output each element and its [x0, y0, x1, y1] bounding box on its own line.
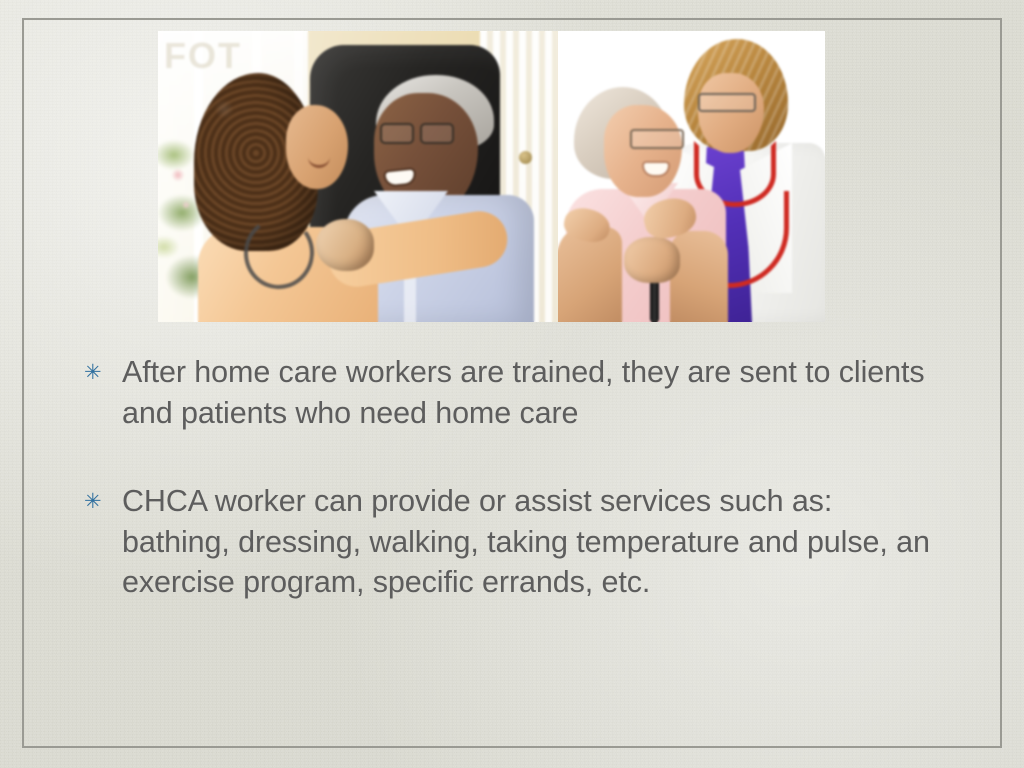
elderly-woman-arm-right [670, 231, 728, 322]
door-knob-icon [519, 151, 532, 164]
bullet-item-2: ✳ CHCA worker can provide or assist serv… [84, 481, 946, 603]
elderly-woman-face [604, 105, 682, 197]
photo-home-care-worker-and-elderly-man: FOT [158, 31, 558, 322]
eyeglasses-icon [698, 93, 756, 112]
image-band: FOT [158, 31, 825, 322]
eyeglasses-icon [380, 123, 454, 141]
slide-canvas: FOT [0, 0, 1024, 768]
elderly-woman-hands-on-cane [624, 237, 680, 283]
asterisk-bullet-icon: ✳ [84, 352, 122, 383]
bullet-text-1: After home care workers are trained, the… [122, 352, 946, 433]
bullet-item-1: ✳ After home care workers are trained, t… [84, 352, 946, 433]
clasped-hands [316, 219, 374, 271]
photo-elderly-woman-with-doctor [558, 31, 825, 322]
asterisk-bullet-icon: ✳ [84, 481, 122, 512]
photo-watermark: FOT [164, 35, 242, 77]
care-worker-face [286, 105, 348, 189]
slide-body-text: ✳ After home care workers are trained, t… [84, 352, 946, 603]
eyeglasses-icon [630, 129, 684, 149]
bullet-text-2: CHCA worker can provide or assist servic… [122, 481, 946, 603]
